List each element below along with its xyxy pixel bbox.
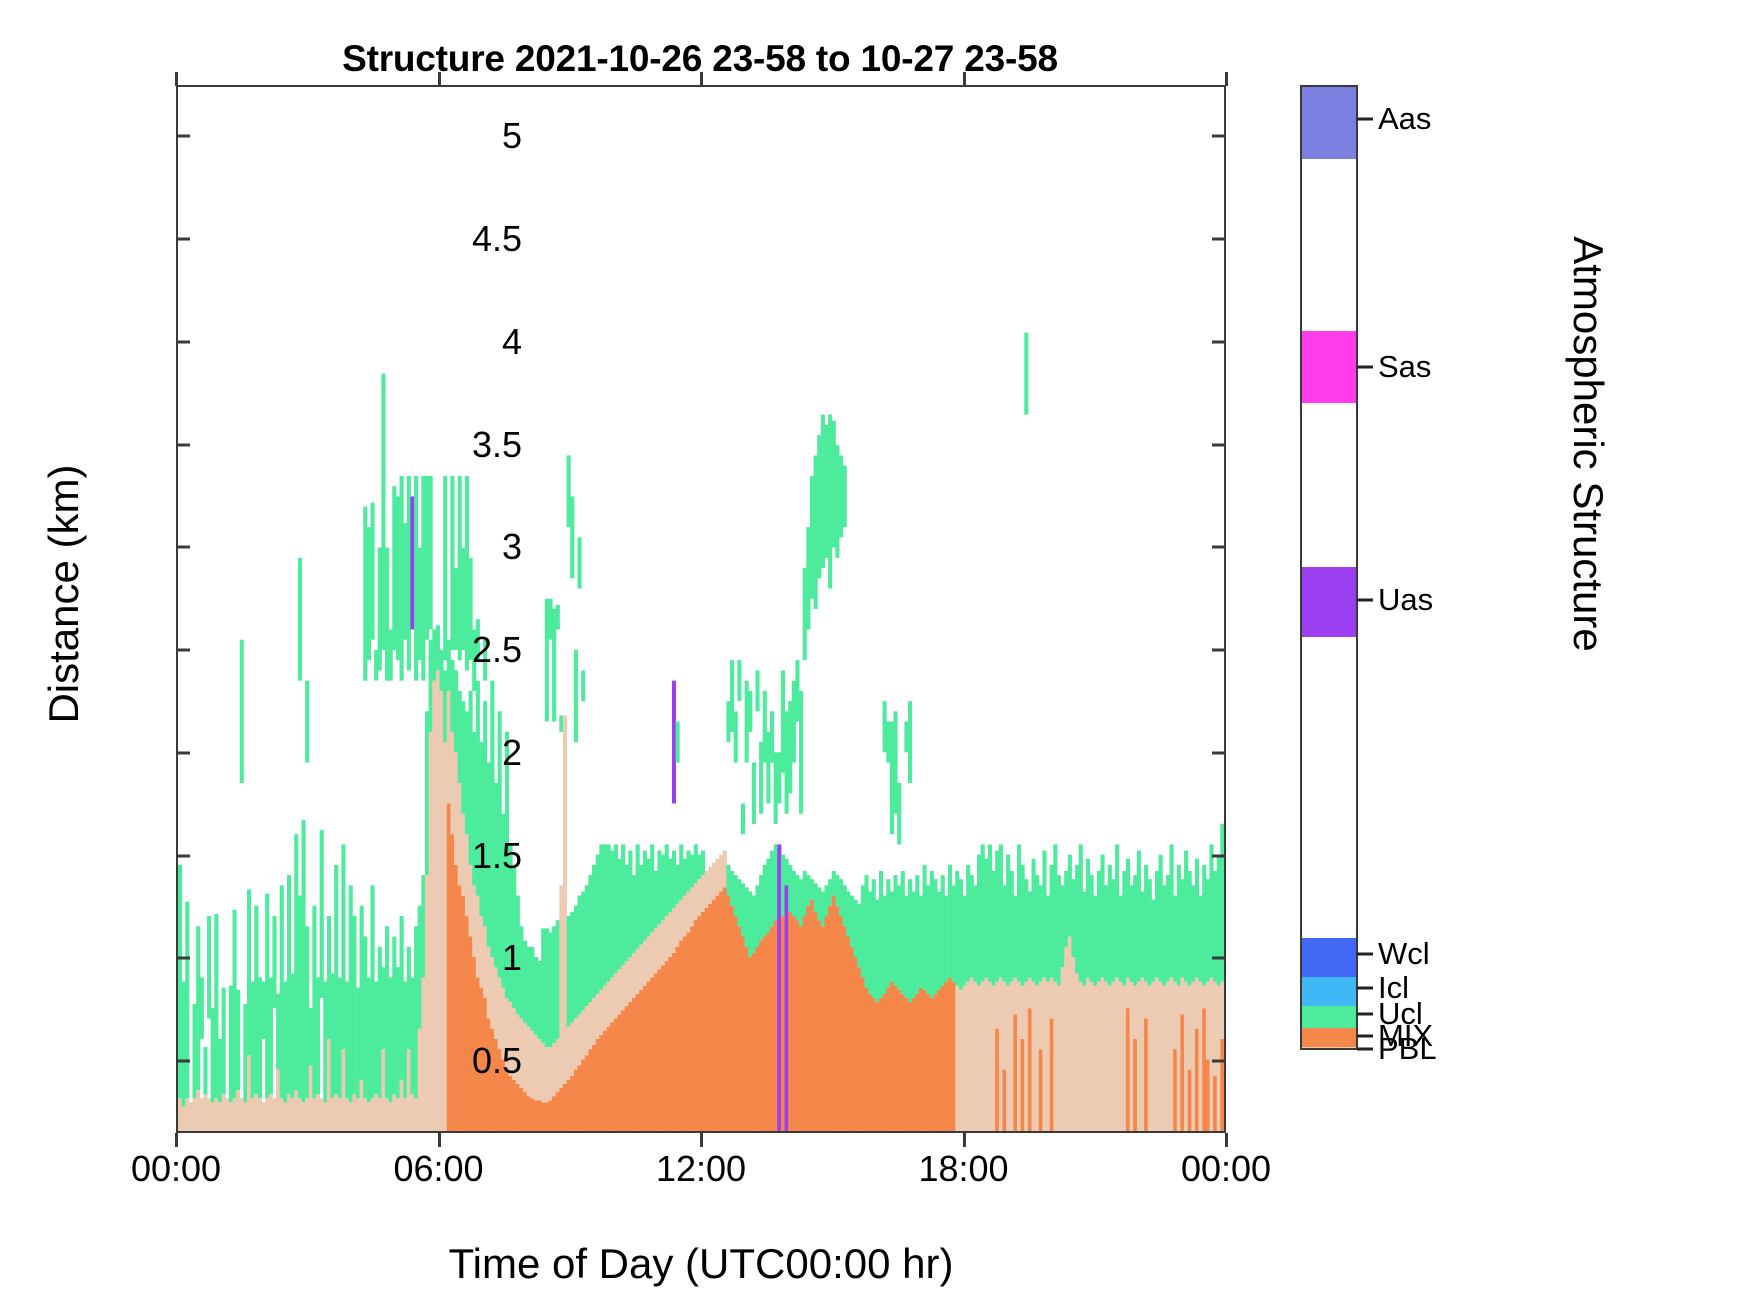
structure-cell bbox=[538, 961, 542, 1039]
y-axis-tick-mark bbox=[176, 854, 190, 857]
structure-cell bbox=[785, 711, 789, 813]
y-axis-tick-label: 4.5 bbox=[412, 218, 522, 260]
structure-cell bbox=[908, 1002, 912, 1131]
structure-cell bbox=[690, 887, 694, 926]
y-axis-tick-mark-right bbox=[1212, 546, 1226, 549]
structure-cell bbox=[817, 887, 821, 920]
structure-cell bbox=[1104, 982, 1108, 1131]
structure-cell bbox=[643, 986, 647, 1131]
structure-cell bbox=[378, 1098, 382, 1131]
structure-cell bbox=[668, 859, 672, 912]
structure-cell bbox=[1133, 986, 1137, 1039]
structure-cell bbox=[385, 548, 389, 681]
structure-cell bbox=[530, 1098, 534, 1131]
structure-cell bbox=[1042, 851, 1046, 978]
structure-cell bbox=[1119, 982, 1123, 1131]
structure-cell bbox=[625, 961, 629, 1006]
structure-cell bbox=[1115, 977, 1119, 1131]
structure-cell bbox=[1202, 986, 1206, 1009]
structure-cell bbox=[777, 844, 781, 1131]
structure-cell bbox=[843, 926, 847, 1131]
structure-cell bbox=[901, 994, 905, 1131]
y-axis-tick-mark-right bbox=[1212, 1060, 1226, 1063]
structure-cell bbox=[1206, 879, 1210, 981]
structure-cell bbox=[712, 863, 716, 900]
structure-cell bbox=[730, 660, 734, 732]
structure-cell bbox=[603, 844, 607, 985]
structure-cell bbox=[824, 885, 828, 916]
structure-cell bbox=[356, 988, 360, 1099]
structure-cell bbox=[712, 900, 716, 1131]
structure-cell bbox=[1119, 896, 1123, 982]
structure-cell bbox=[1217, 855, 1221, 986]
structure-cell bbox=[1195, 859, 1199, 978]
structure-cell bbox=[1079, 982, 1083, 1131]
structure-cell bbox=[941, 875, 945, 986]
structure-cell bbox=[258, 977, 262, 1098]
structure-cell bbox=[676, 865, 680, 904]
structure-cell bbox=[1220, 982, 1224, 1039]
colorbar-segment-icl bbox=[1302, 977, 1356, 1006]
structure-cell bbox=[1173, 1049, 1177, 1131]
structure-cell bbox=[512, 1080, 516, 1131]
structure-cell bbox=[1184, 982, 1188, 1131]
x-axis-tick-mark-top bbox=[700, 72, 703, 86]
structure-cell bbox=[926, 994, 930, 1131]
structure-cell bbox=[403, 982, 407, 1099]
colorbar-tick-mark bbox=[1357, 599, 1373, 602]
structure-cell bbox=[323, 982, 327, 1103]
structure-cell bbox=[1148, 879, 1152, 985]
structure-cell bbox=[755, 947, 759, 1131]
structure-cell bbox=[621, 965, 625, 1010]
structure-cell bbox=[578, 896, 582, 1015]
y-axis-tick-label: 1 bbox=[412, 937, 522, 979]
structure-cell bbox=[1039, 982, 1043, 1050]
structure-cell bbox=[607, 1027, 611, 1131]
structure-cell bbox=[952, 982, 956, 1131]
structure-cell bbox=[879, 998, 883, 1131]
structure-cell bbox=[574, 1070, 578, 1131]
structure-cell bbox=[737, 926, 741, 1131]
structure-cell bbox=[567, 455, 571, 527]
structure-cell bbox=[240, 640, 244, 783]
structure-cell bbox=[984, 977, 988, 1131]
structure-cell bbox=[1166, 982, 1170, 1131]
structure-cell bbox=[636, 994, 640, 1131]
structure-cell bbox=[400, 916, 404, 1080]
structure-cell bbox=[1101, 855, 1105, 978]
structure-cell bbox=[1202, 1008, 1206, 1131]
structure-cell bbox=[519, 1088, 523, 1131]
x-axis-tick-mark-top bbox=[1225, 72, 1228, 86]
structure-cell bbox=[370, 503, 374, 640]
structure-cell bbox=[763, 865, 767, 937]
structure-cell bbox=[588, 875, 592, 1002]
structure-cell bbox=[770, 851, 774, 927]
structure-cell bbox=[788, 912, 792, 1131]
structure-cell bbox=[701, 912, 705, 1131]
structure-cell bbox=[370, 885, 374, 1098]
structure-cell bbox=[574, 906, 578, 1019]
structure-cell bbox=[781, 670, 785, 772]
structure-cell bbox=[908, 701, 912, 783]
structure-cell bbox=[563, 1084, 567, 1131]
structure-cell bbox=[548, 932, 552, 1047]
structure-cell bbox=[686, 851, 690, 892]
structure-cell bbox=[904, 896, 908, 998]
structure-cell bbox=[966, 865, 970, 982]
structure-cell bbox=[654, 928, 658, 973]
structure-cell bbox=[222, 988, 226, 1094]
structure-cell bbox=[1151, 900, 1155, 982]
structure-cell bbox=[312, 1098, 316, 1131]
structure-cell bbox=[287, 875, 291, 1094]
structure-cell bbox=[298, 1098, 302, 1131]
structure-cell bbox=[999, 844, 1003, 977]
structure-cell bbox=[672, 681, 676, 804]
structure-cell bbox=[607, 844, 611, 981]
structure-cell bbox=[908, 879, 912, 1002]
structure-cell bbox=[240, 1098, 244, 1131]
structure-cell bbox=[843, 466, 847, 527]
structure-cell bbox=[1180, 879, 1184, 977]
structure-cell bbox=[1035, 986, 1039, 1131]
structure-cell bbox=[679, 941, 683, 1131]
structure-cell bbox=[806, 527, 810, 629]
structure-cell bbox=[352, 916, 356, 1094]
structure-cell bbox=[178, 1098, 182, 1131]
structure-cell bbox=[189, 1102, 193, 1131]
structure-cell bbox=[697, 855, 701, 880]
structure-cell bbox=[1090, 875, 1094, 981]
structure-cell bbox=[1166, 875, 1170, 981]
structure-cell bbox=[792, 916, 796, 1131]
structure-cell bbox=[723, 887, 727, 1131]
structure-cell bbox=[360, 906, 364, 1080]
colorbar-title: Atmospheric Structure bbox=[1564, 194, 1612, 694]
structure-cell bbox=[785, 885, 789, 1131]
structure-cell bbox=[200, 1098, 204, 1131]
y-axis-tick-mark-right bbox=[1212, 751, 1226, 754]
structure-cell bbox=[389, 977, 393, 1102]
colorbar-tick-mark bbox=[1357, 1013, 1373, 1016]
structure-cell bbox=[988, 982, 992, 1131]
structure-cell bbox=[835, 875, 839, 906]
structure-cell bbox=[766, 859, 770, 933]
structure-cell bbox=[857, 967, 861, 1131]
structure-cell bbox=[400, 1080, 404, 1131]
structure-cell bbox=[236, 990, 240, 1090]
structure-cell bbox=[1173, 896, 1177, 982]
structure-cell bbox=[810, 900, 814, 1131]
structure-cell bbox=[291, 973, 295, 1098]
structure-cell bbox=[726, 896, 730, 1131]
structure-cell bbox=[509, 1076, 513, 1131]
structure-cell bbox=[839, 455, 843, 537]
structure-cell bbox=[992, 986, 996, 1131]
y-axis-tick-label: 2.5 bbox=[412, 629, 522, 671]
structure-cell bbox=[305, 681, 309, 763]
structure-cell bbox=[679, 844, 683, 899]
colorbar-tick-mark bbox=[1357, 987, 1373, 990]
structure-cell bbox=[258, 1098, 262, 1131]
structure-cell bbox=[545, 1047, 549, 1102]
structure-cell bbox=[774, 920, 778, 1131]
structure-cell bbox=[734, 916, 738, 1131]
structure-cell bbox=[806, 906, 810, 1131]
structure-cell bbox=[1013, 896, 1017, 978]
structure-cell bbox=[538, 1100, 542, 1131]
structure-cell bbox=[643, 851, 647, 941]
structure-cell bbox=[1155, 977, 1159, 1131]
y-axis-tick-label: 5 bbox=[412, 115, 522, 157]
structure-cell bbox=[868, 994, 872, 1131]
structure-cell bbox=[538, 1039, 542, 1100]
structure-cell bbox=[556, 920, 560, 1039]
structure-cell bbox=[1075, 865, 1079, 973]
structure-cell bbox=[1159, 855, 1163, 982]
colorbar-label-pbl: PBL bbox=[1378, 1031, 1437, 1067]
structure-cell bbox=[527, 1096, 531, 1131]
structure-cell bbox=[545, 599, 549, 722]
structure-cell bbox=[981, 982, 985, 1131]
structure-cell bbox=[759, 742, 763, 814]
structure-cell bbox=[1137, 851, 1141, 982]
structure-cell bbox=[527, 947, 531, 1027]
structure-cell bbox=[621, 1010, 625, 1131]
structure-cell bbox=[745, 947, 749, 1131]
structure-cell bbox=[182, 1106, 186, 1131]
structure-cell bbox=[254, 906, 258, 1094]
structure-cell bbox=[795, 660, 799, 721]
structure-cell bbox=[614, 1018, 618, 1131]
structure-cell bbox=[701, 851, 705, 876]
structure-cell bbox=[1180, 977, 1184, 1014]
x-axis-tick-label: 12:00 bbox=[601, 1148, 801, 1190]
structure-cell bbox=[607, 982, 611, 1027]
structure-cell bbox=[585, 885, 589, 1006]
structure-cell bbox=[243, 1004, 247, 1102]
structure-cell bbox=[752, 763, 756, 824]
structure-cell bbox=[389, 1102, 393, 1131]
structure-cell bbox=[672, 851, 676, 908]
structure-cell bbox=[1202, 865, 1206, 986]
structure-cell bbox=[363, 1098, 367, 1131]
structure-cell bbox=[461, 896, 465, 1131]
structure-cell bbox=[305, 1098, 309, 1131]
structure-cell bbox=[872, 879, 876, 998]
structure-cell bbox=[251, 1098, 255, 1131]
structure-cell bbox=[792, 871, 796, 916]
structure-cell bbox=[1093, 896, 1097, 986]
structure-cell bbox=[708, 904, 712, 1131]
structure-cell bbox=[657, 969, 661, 1131]
x-axis-tick-mark bbox=[700, 1133, 703, 1147]
structure-cell bbox=[349, 885, 353, 1102]
structure-cell bbox=[628, 957, 632, 1002]
structure-cell bbox=[1180, 1014, 1184, 1131]
structure-cell bbox=[345, 1098, 349, 1131]
structure-cell bbox=[817, 920, 821, 1131]
structure-cell bbox=[1057, 986, 1061, 1131]
structure-cell bbox=[247, 1055, 251, 1131]
structure-cell bbox=[294, 834, 298, 1090]
structure-cell bbox=[886, 879, 890, 987]
structure-cell bbox=[683, 937, 687, 1131]
structure-cell bbox=[378, 548, 382, 671]
colorbar-tick-mark bbox=[1357, 1048, 1373, 1051]
structure-cell bbox=[229, 1102, 233, 1131]
structure-cell bbox=[367, 527, 371, 660]
structure-cell bbox=[320, 830, 324, 998]
structure-cell bbox=[763, 691, 767, 763]
structure-cell bbox=[327, 1039, 331, 1131]
structure-cell bbox=[795, 920, 799, 1131]
structure-cell bbox=[705, 908, 709, 1131]
structure-cell bbox=[690, 926, 694, 1131]
structure-cell bbox=[1006, 855, 1010, 986]
structure-cell bbox=[218, 1102, 222, 1131]
structure-cell bbox=[726, 701, 730, 742]
structure-cell bbox=[570, 496, 574, 578]
structure-cell bbox=[730, 906, 734, 1131]
structure-cell bbox=[1046, 896, 1050, 982]
structure-cell bbox=[1079, 844, 1083, 981]
structure-cell bbox=[225, 1098, 229, 1131]
structure-cell bbox=[636, 844, 640, 948]
structure-cell bbox=[534, 957, 538, 1035]
structure-cell bbox=[407, 476, 411, 670]
structure-cell bbox=[1199, 982, 1203, 1131]
colorbar-tick-mark bbox=[1357, 365, 1373, 368]
structure-cell bbox=[578, 537, 582, 588]
structure-cell bbox=[349, 1102, 353, 1131]
structure-cell bbox=[694, 920, 698, 1131]
structure-cell bbox=[963, 896, 967, 986]
structure-cell bbox=[915, 994, 919, 1131]
structure-cell bbox=[835, 906, 839, 1131]
structure-cell bbox=[262, 982, 266, 1039]
structure-cell bbox=[200, 977, 204, 1038]
structure-cell bbox=[824, 916, 828, 1131]
structure-cell bbox=[218, 1039, 222, 1102]
structure-cell bbox=[530, 1031, 534, 1099]
structure-cell bbox=[1046, 982, 1050, 1131]
structure-cell bbox=[723, 851, 727, 888]
structure-cell bbox=[752, 896, 756, 953]
structure-cell bbox=[1199, 896, 1203, 982]
structure-cell bbox=[901, 871, 905, 994]
structure-cell bbox=[657, 851, 661, 925]
structure-cell bbox=[774, 752, 778, 824]
structure-cell bbox=[592, 998, 596, 1045]
structure-cell bbox=[832, 871, 836, 896]
structure-cell bbox=[668, 912, 672, 957]
structure-cell bbox=[309, 1008, 313, 1065]
structure-cell bbox=[265, 894, 269, 1099]
structure-cell bbox=[883, 896, 887, 994]
y-axis-tick-mark-right bbox=[1212, 135, 1226, 138]
structure-cell bbox=[345, 982, 349, 1099]
structure-cell bbox=[650, 977, 654, 1131]
structure-cell bbox=[955, 986, 959, 1131]
structure-cell bbox=[628, 851, 632, 957]
structure-cell bbox=[1050, 977, 1054, 1018]
structure-cell bbox=[654, 973, 658, 1131]
y-axis-tick-mark bbox=[176, 957, 190, 960]
structure-cell bbox=[556, 1092, 560, 1131]
structure-cell bbox=[821, 926, 825, 1131]
structure-cell bbox=[585, 1055, 589, 1131]
structure-cell bbox=[737, 660, 741, 701]
colorbar-segment-wcl bbox=[1302, 938, 1356, 977]
structure-cell bbox=[1057, 875, 1061, 986]
structure-cell bbox=[832, 896, 836, 1131]
structure-cell bbox=[229, 986, 233, 1103]
structure-cell bbox=[973, 885, 977, 981]
structure-cell bbox=[341, 844, 345, 1049]
structure-cell bbox=[933, 879, 937, 994]
structure-cell bbox=[919, 988, 923, 1131]
structure-cell bbox=[988, 844, 992, 981]
structure-cell bbox=[930, 871, 934, 998]
y-axis-tick-label: 3.5 bbox=[412, 424, 522, 466]
structure-cell bbox=[567, 916, 571, 1027]
x-axis-tick-mark-top bbox=[438, 72, 441, 86]
structure-cell bbox=[320, 1098, 324, 1131]
y-axis-tick-mark bbox=[176, 135, 190, 138]
structure-cell bbox=[770, 926, 774, 1131]
structure-cell bbox=[1140, 977, 1144, 1131]
structure-cell bbox=[1053, 982, 1057, 1131]
structure-cell bbox=[781, 916, 785, 1131]
structure-cell bbox=[1188, 871, 1192, 986]
structure-cell bbox=[182, 982, 186, 1107]
structure-cell bbox=[970, 875, 974, 977]
colorbar-tick-mark bbox=[1357, 117, 1373, 120]
structure-cell bbox=[650, 932, 654, 977]
structure-cell bbox=[981, 844, 985, 981]
structure-cell bbox=[912, 998, 916, 1131]
structure-cell bbox=[425, 875, 429, 1131]
structure-cell bbox=[701, 875, 705, 912]
structure-cell bbox=[556, 605, 560, 630]
structure-cell bbox=[599, 844, 603, 989]
structure-cell bbox=[1035, 875, 1039, 986]
structure-cell bbox=[923, 865, 927, 990]
colorbar-segment-ucl bbox=[1302, 1006, 1356, 1028]
structure-cell bbox=[1133, 875, 1137, 986]
structure-cell bbox=[1061, 885, 1065, 967]
structure-cell bbox=[1050, 1018, 1054, 1131]
structure-cell bbox=[232, 1098, 236, 1131]
structure-cell bbox=[788, 701, 792, 793]
structure-cell bbox=[272, 916, 276, 1008]
x-axis-tick-mark bbox=[1225, 1133, 1228, 1147]
structure-cell bbox=[1050, 865, 1054, 978]
structure-cell bbox=[232, 910, 236, 1098]
structure-cell bbox=[952, 885, 956, 981]
structure-cell bbox=[1122, 871, 1126, 986]
structure-cell bbox=[356, 1098, 360, 1131]
structure-cell bbox=[893, 986, 897, 1131]
y-axis-tick-mark bbox=[176, 340, 190, 343]
y-axis-tick-mark-right bbox=[1212, 854, 1226, 857]
y-axis-tick-label: 0.5 bbox=[412, 1040, 522, 1082]
structure-cell bbox=[211, 1008, 215, 1102]
structure-cell bbox=[570, 1076, 574, 1131]
